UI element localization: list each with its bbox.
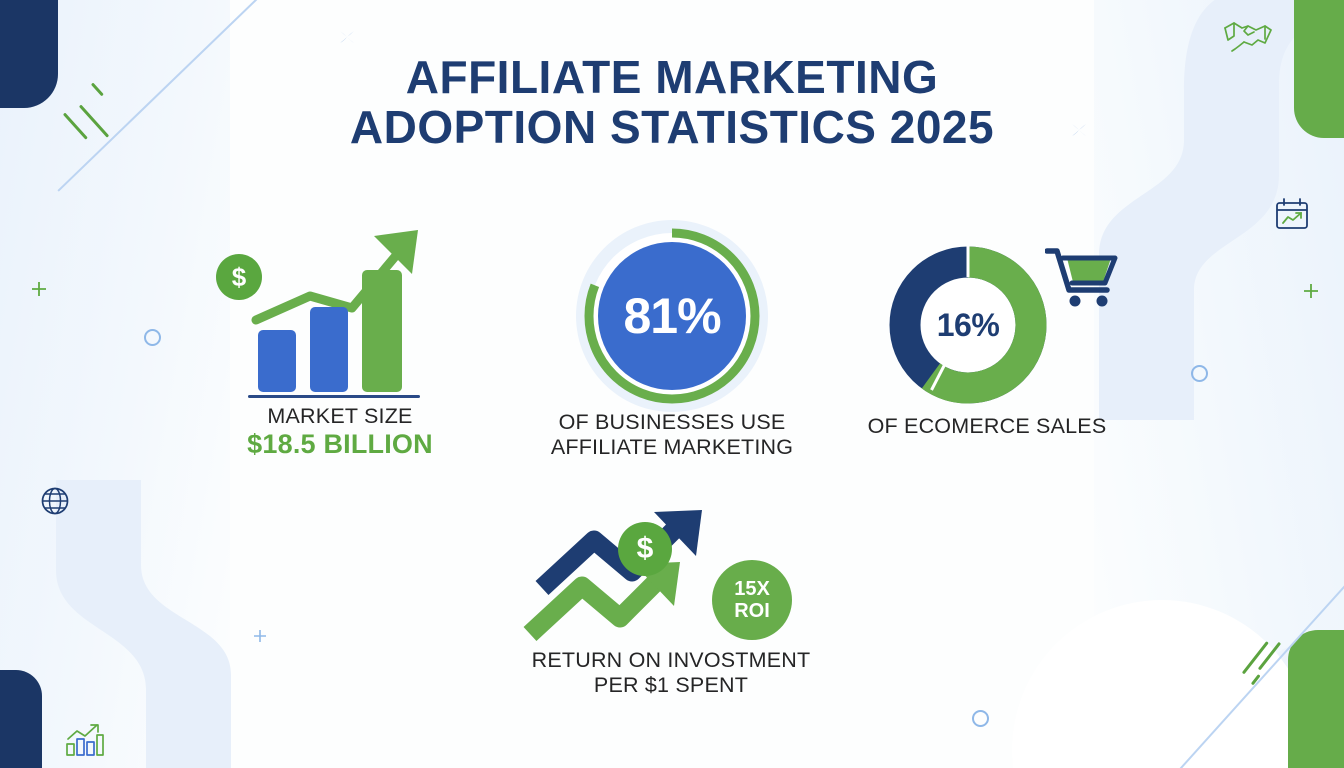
ecommerce-caption: OF ECOMERCE SALES: [855, 414, 1119, 439]
white-blob-bottom-right: [1012, 600, 1312, 768]
title-line-2: ADOPTION STATISTICS 2025: [0, 102, 1344, 152]
roi-badge-line-2: ROI: [734, 600, 770, 622]
donut-chart-value: 16%: [921, 278, 1015, 372]
stat-block-roi: $ 15X ROI RETURN ON INVOSTMENT PER $1 SP…: [498, 508, 844, 698]
percent-circle-icon: 81%: [530, 222, 814, 410]
sparkle-x-icon-top-left: [336, 26, 358, 48]
market-size-caption: MARKET SIZE: [200, 404, 480, 429]
bar-1: [258, 330, 296, 392]
calendar-chart-icon: [1274, 197, 1310, 231]
page-title: AFFILIATE MARKETING ADOPTION STATISTICS …: [0, 52, 1344, 152]
dollar-coin-symbol-roi: $: [637, 532, 654, 566]
circle-outline-icon-bottom: [972, 710, 989, 727]
corner-block-green-bottom-right: [1288, 630, 1344, 768]
growth-arrows-icon: $ 15X ROI: [498, 508, 844, 648]
stat-block-businesses: 81% OF BUSINESSES USE AFFILIATE MARKETIN…: [530, 222, 814, 460]
slash-mark-bottom-right-2: [1258, 642, 1281, 671]
roi-badge-line-1: 15X: [734, 578, 770, 600]
plus-mark-icon-left: [30, 280, 48, 298]
diagonal-line-bottom-right: [1179, 582, 1344, 768]
bar-2: [310, 307, 348, 392]
roi-caption-line-2: PER $1 SPENT: [498, 673, 844, 698]
dollar-coin-symbol: $: [232, 262, 246, 293]
donut-chart-icon: 16%: [855, 236, 1119, 414]
bar-chart-baseline: [248, 395, 420, 399]
title-line-1: AFFILIATE MARKETING: [0, 52, 1344, 102]
businesses-caption-line-1: OF BUSINESSES USE: [530, 410, 814, 435]
businesses-caption-line-2: AFFILIATE MARKETING: [530, 435, 814, 460]
dollar-coin-icon-roi: $: [618, 522, 672, 576]
ribbon-curve-left-bottom: [26, 480, 256, 768]
globe-icon: [40, 486, 70, 516]
bar-3: [362, 270, 402, 392]
ribbon-curve-right-bottom: [1104, 584, 1304, 768]
stat-block-market-size: $ MARKET SIZE $18.5 BILLION: [200, 224, 480, 459]
bar-chart-small-icon: [64, 722, 106, 758]
roi-badge: 15X ROI: [712, 560, 792, 640]
slash-mark-bottom-right-1: [1242, 641, 1269, 674]
market-size-value: $18.5 BILLION: [200, 429, 480, 459]
slash-mark-bottom-right-3: [1251, 674, 1261, 685]
percent-circle-value: 81%: [598, 242, 746, 390]
infographic-canvas: AFFILIATE MARKETING ADOPTION STATISTICS …: [0, 0, 1344, 768]
corner-block-navy-bottom-left: [0, 670, 42, 768]
bar-chart-growth-icon: $: [200, 224, 480, 404]
circle-outline-icon-left: [144, 329, 161, 346]
plus-mark-icon-right: [1302, 282, 1320, 300]
shopping-cart-icon: [1045, 246, 1125, 308]
plus-mark-icon-bottom-left: [252, 628, 268, 644]
stat-block-ecommerce: 16% OF ECOMERCE SALES: [855, 236, 1119, 439]
circle-outline-icon-right: [1191, 365, 1208, 382]
